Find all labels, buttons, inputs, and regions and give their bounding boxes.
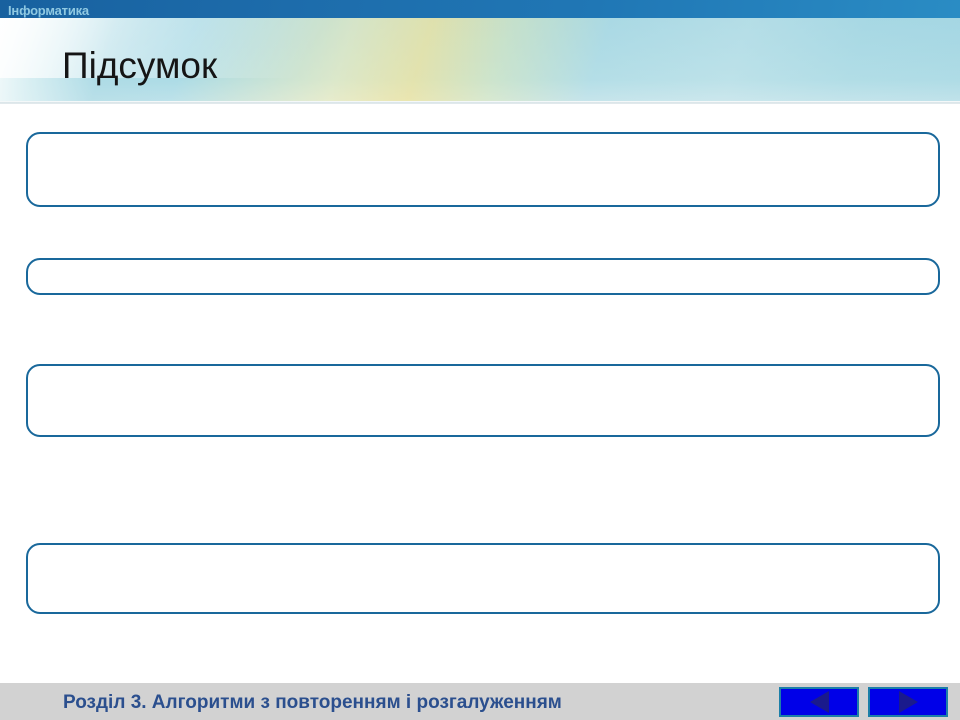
content-box-4-text	[28, 545, 938, 557]
content-box-3-text	[28, 366, 938, 378]
page-title: Підсумок	[62, 44, 217, 88]
slide-content-area	[0, 103, 960, 680]
content-box-2-text	[28, 260, 938, 272]
presentation-slide: Інформатика Підсумок Розділ 3. Алгоритми…	[0, 0, 960, 720]
content-box-4	[26, 543, 940, 614]
content-box-2	[26, 258, 940, 295]
previous-slide-button[interactable]	[779, 687, 859, 717]
next-slide-button[interactable]	[868, 687, 948, 717]
triangle-right-icon	[899, 691, 918, 713]
footer-section-label: Розділ 3. Алгоритми з повторенням і розг…	[63, 691, 562, 714]
content-box-3	[26, 364, 940, 437]
triangle-left-icon	[810, 691, 829, 713]
content-box-1-text	[28, 134, 938, 146]
content-box-1	[26, 132, 940, 207]
brand-label: Інформатика	[8, 4, 268, 18]
